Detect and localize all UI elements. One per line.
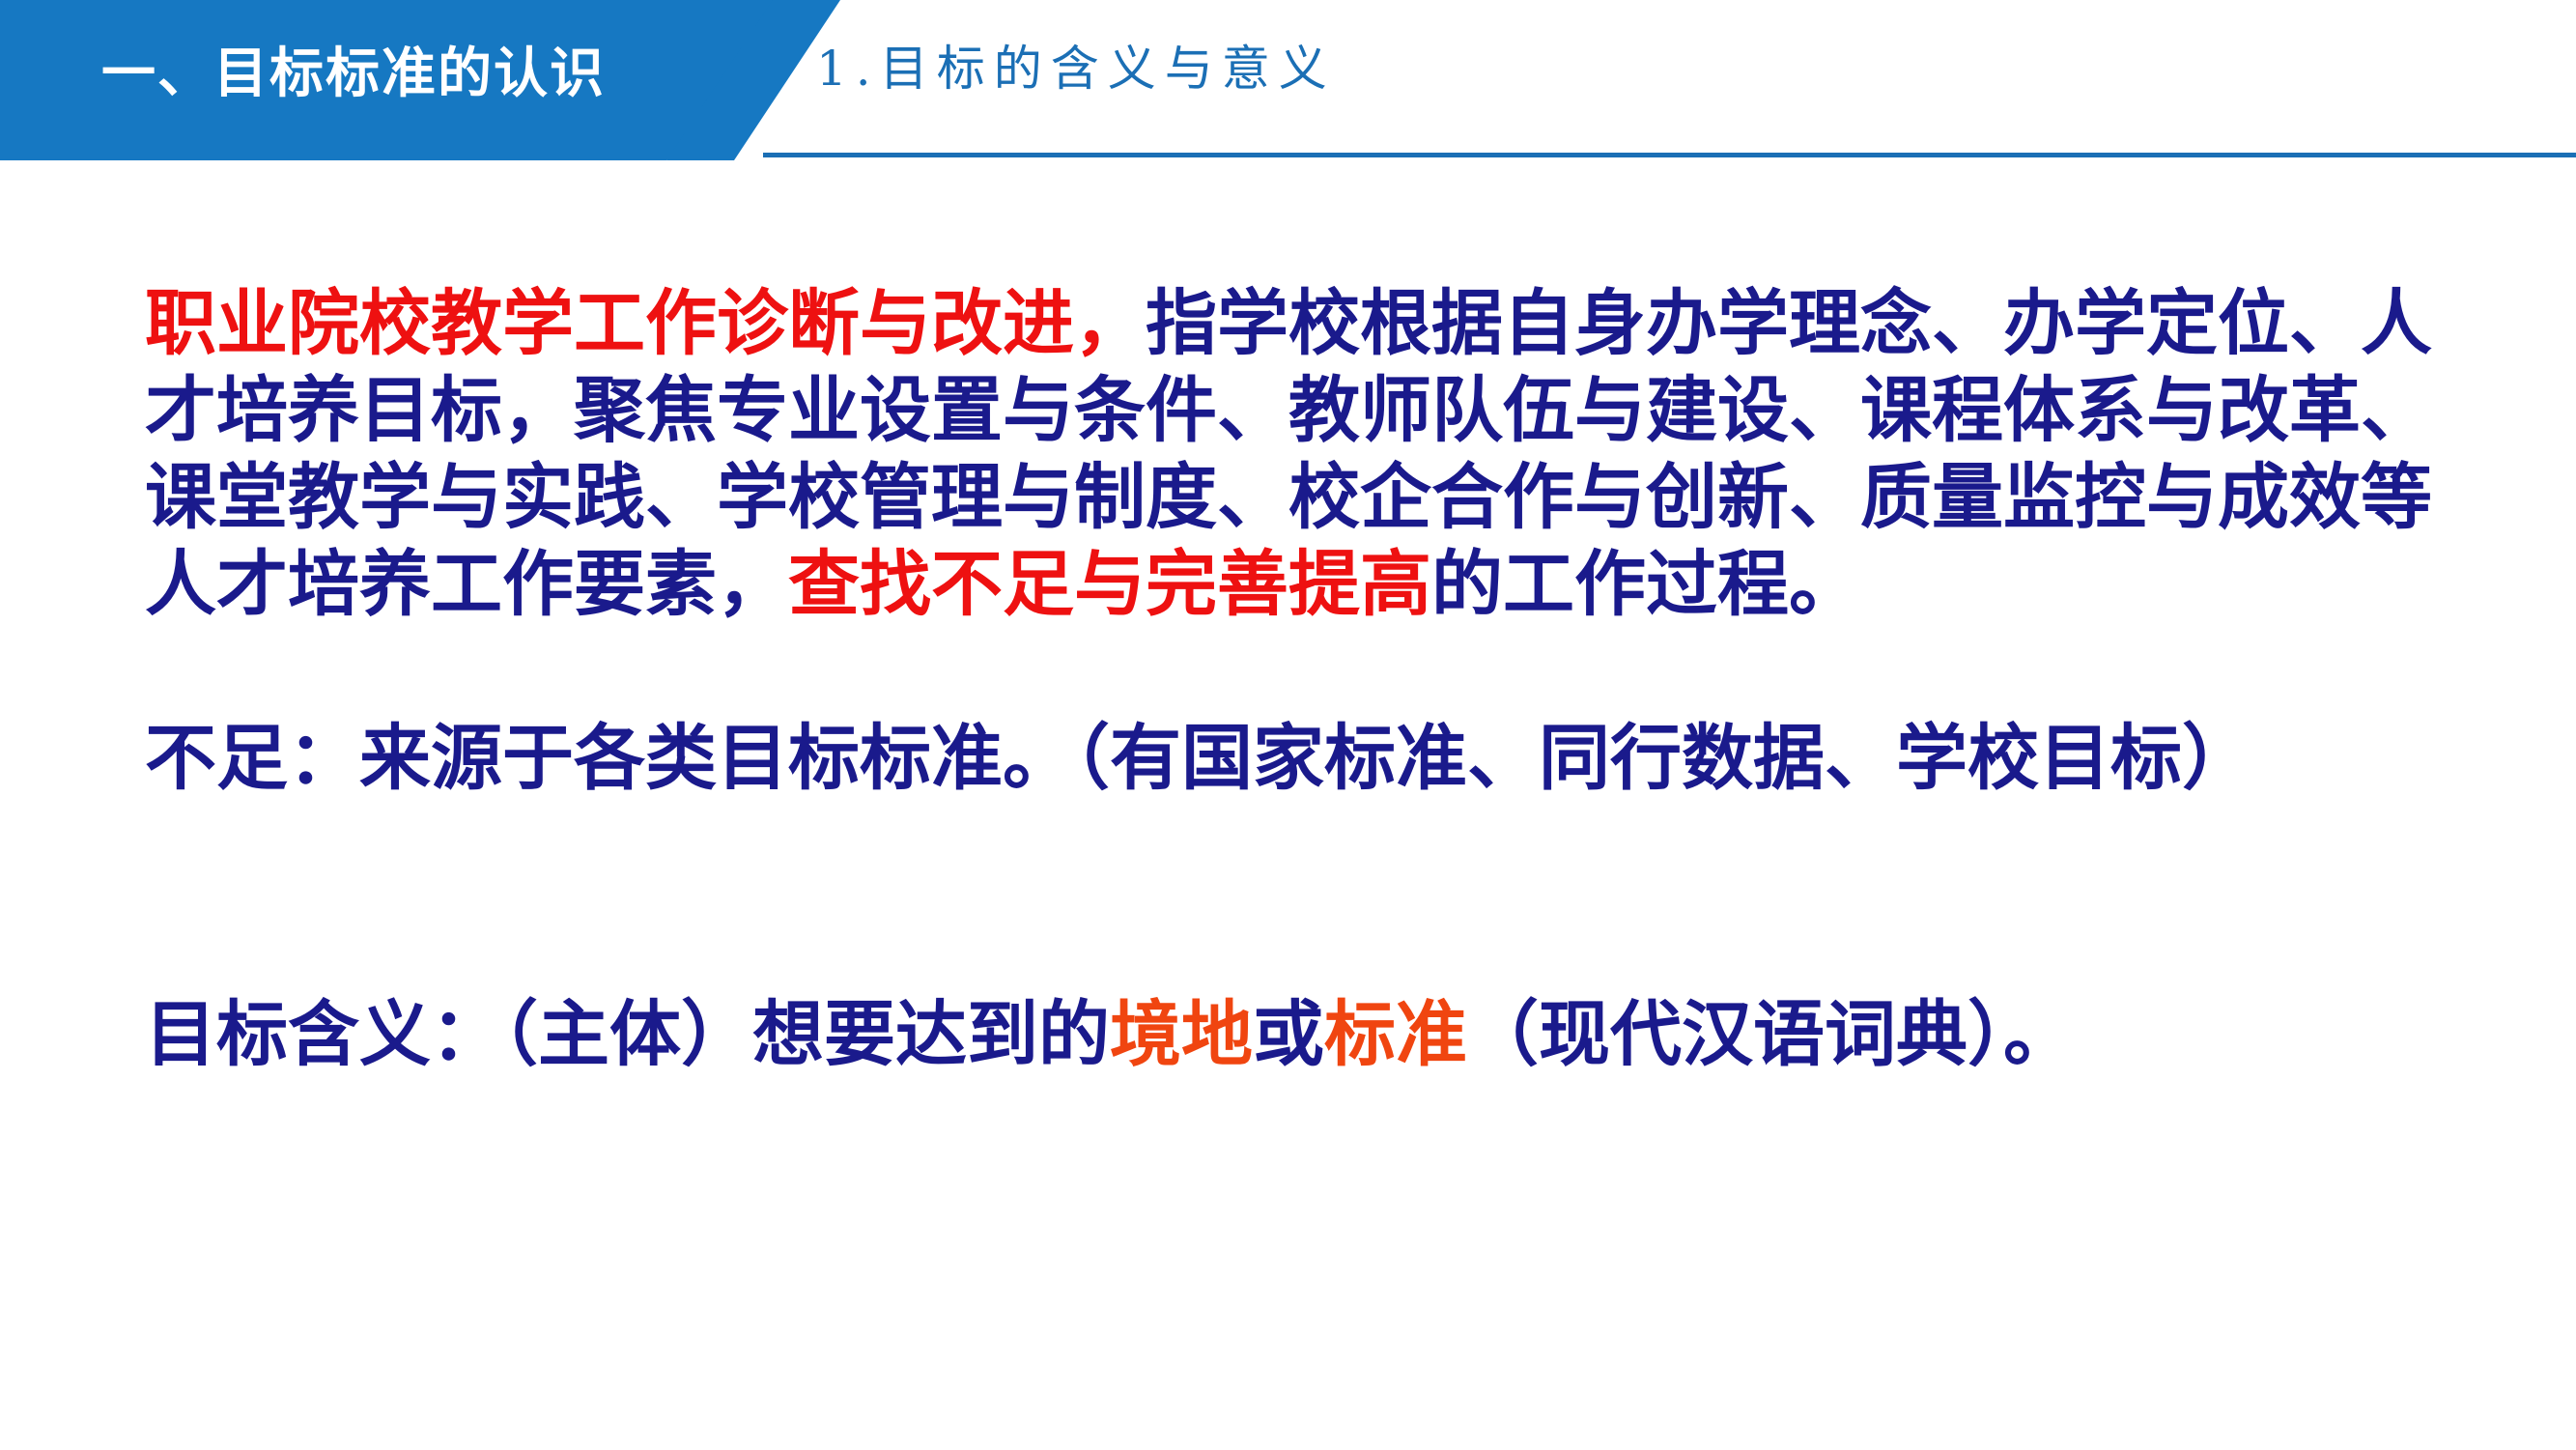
slide-canvas: 一、目标标准的认识 1.目标的含义与意义 职业院校教学工作诊断与改进，指学校根据… — [0, 0, 2576, 1450]
text-run-orange: 境地 — [1110, 994, 1253, 1074]
text-run-navy: 不足：来源于各类目标标准。（有国家标准、同行数据、学校目标） — [145, 718, 2253, 798]
text-run-red: 查找不足与完善提高 — [788, 544, 1431, 624]
text-run-navy: 目标含义：（主体）想要达到的 — [145, 994, 1110, 1074]
slide-subtitle: 1.目标的含义与意义 — [816, 44, 1336, 93]
text-run-navy: 的工作过程。 — [1431, 544, 1860, 624]
text-run-navy: （现代汉语词典）。 — [1467, 994, 2075, 1074]
header-underline-left — [0, 150, 676, 159]
slide-body: 职业院校教学工作诊断与改进，指学校根据自身办学理念、办学定位、人才培养目标，聚焦… — [145, 280, 2482, 1078]
slide-header: 一、目标标准的认识 1.目标的含义与意义 — [0, 0, 2576, 160]
header-underline-right — [763, 153, 2576, 157]
paragraph-shortcoming: 不足：来源于各类目标标准。（有国家标准、同行数据、学校目标） — [145, 715, 2482, 802]
text-run-red: 职业院校教学工作诊断与改进， — [145, 283, 1146, 363]
paragraph-spacer — [145, 802, 2482, 991]
paragraph-goal-meaning: 目标含义：（主体）想要达到的境地或标准（现代汉语词典）。 — [145, 991, 2482, 1078]
text-run-orange: 标准 — [1324, 994, 1467, 1074]
text-run-navy: 或 — [1253, 994, 1324, 1074]
paragraph-definition: 职业院校教学工作诊断与改进，指学校根据自身办学理念、办学定位、人才培养目标，聚焦… — [145, 280, 2482, 628]
section-title: 一、目标标准的认识 — [101, 46, 606, 100]
paragraph-spacer — [145, 628, 2482, 715]
